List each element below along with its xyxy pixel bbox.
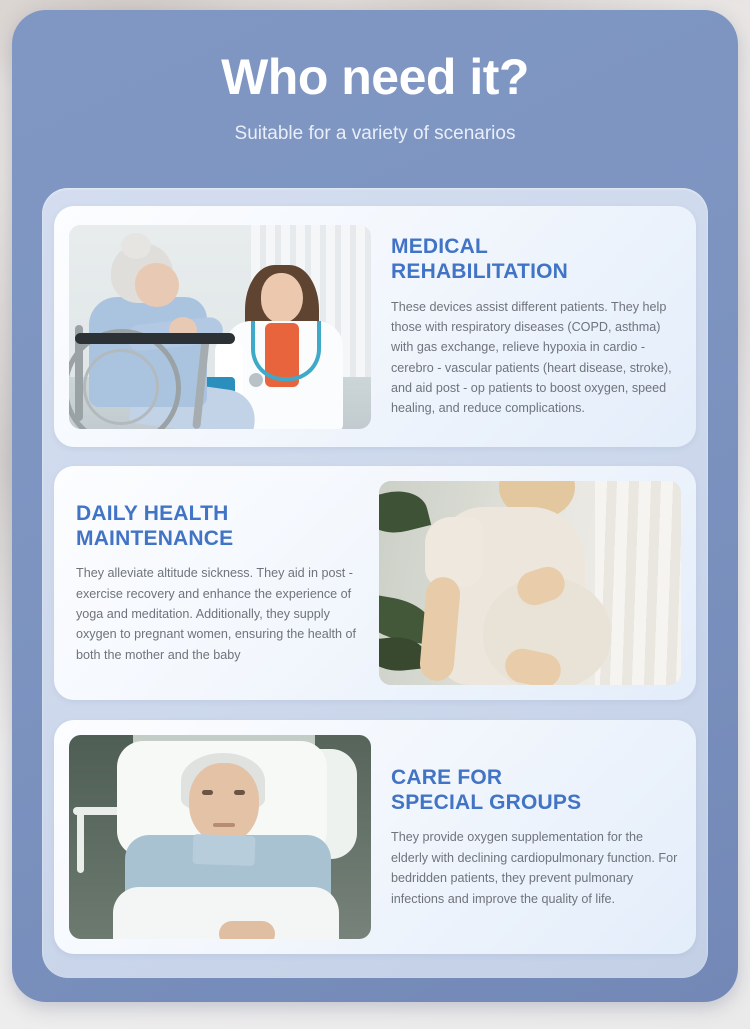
cards-container: MEDICAL REHABILITATION These devices ass… [42,188,708,978]
card-title-medical-rehabilitation: MEDICAL REHABILITATION [391,234,682,284]
card-title-daily-health-maintenance: DAILY HEALTH MAINTENANCE [76,501,359,551]
card-text-care-for-special-groups: CARE FOR SPECIAL GROUPS They provide oxy… [381,765,696,909]
card-body-care-for-special-groups: They provide oxygen supplementation for … [391,827,682,909]
patient-hair-bun-shape [121,233,151,259]
patient-mouth-shape [213,823,235,827]
plant-leaf-shape [379,484,431,540]
card-layout: CARE FOR SPECIAL GROUPS They provide oxy… [54,720,696,954]
patient-left-eye-shape [202,790,213,795]
page-subtitle: Suitable for a variety of scenarios [12,105,738,145]
card-text-medical-rehabilitation: MEDICAL REHABILITATION These devices ass… [381,234,696,419]
patient-hand-shape [219,921,275,939]
bed-rail-post-shape [77,807,84,873]
curtain-shape [595,481,681,685]
card-title-line-1: MEDICAL [391,235,488,258]
patient-right-eye-shape [234,790,245,795]
page-title: Who need it? [12,10,738,105]
hospital-bed-scene-illustration [69,735,371,939]
card-body-medical-rehabilitation: These devices assist different patients.… [391,297,682,419]
patient-face-shape [135,263,179,307]
wheelchair-armrest-shape [75,333,235,344]
card-daily-health-maintenance[interactable]: DAILY HEALTH MAINTENANCE They alleviate … [54,466,696,700]
card-image-medical-rehabilitation [69,225,371,429]
card-title-line-2: MAINTENANCE [76,526,359,551]
card-title-line-1: CARE FOR [391,766,502,789]
card-title-line-2: REHABILITATION [391,259,682,284]
card-image-care-for-special-groups [69,735,371,939]
card-title-line-1: DAILY HEALTH [76,502,229,525]
card-title-care-for-special-groups: CARE FOR SPECIAL GROUPS [391,765,682,815]
sleeve-shape [425,517,483,587]
card-text-daily-health-maintenance: DAILY HEALTH MAINTENANCE They alleviate … [54,501,369,665]
card-medical-rehabilitation[interactable]: MEDICAL REHABILITATION These devices ass… [54,206,696,447]
card-care-for-special-groups[interactable]: CARE FOR SPECIAL GROUPS They provide oxy… [54,720,696,954]
pregnant-woman-scene-illustration [379,481,681,685]
gown-collar-shape [192,834,255,866]
wheelchair-scene-illustration [69,225,371,429]
stethoscope-diaphragm-icon [249,373,263,387]
main-panel: Who need it? Suitable for a variety of s… [12,10,738,1002]
card-layout: MEDICAL REHABILITATION These devices ass… [54,206,696,447]
wheelchair-inner-wheel-shape [83,349,159,425]
card-image-daily-health-maintenance [379,481,681,685]
card-title-line-2: SPECIAL GROUPS [391,790,682,815]
doctor-face-shape [261,273,303,323]
panel-header: Who need it? Suitable for a variety of s… [12,10,738,188]
card-layout: DAILY HEALTH MAINTENANCE They alleviate … [54,466,696,700]
stethoscope-icon [251,321,321,381]
card-body-daily-health-maintenance: They alleviate altitude sickness. They a… [76,563,359,665]
patient-face-shape [189,763,259,843]
